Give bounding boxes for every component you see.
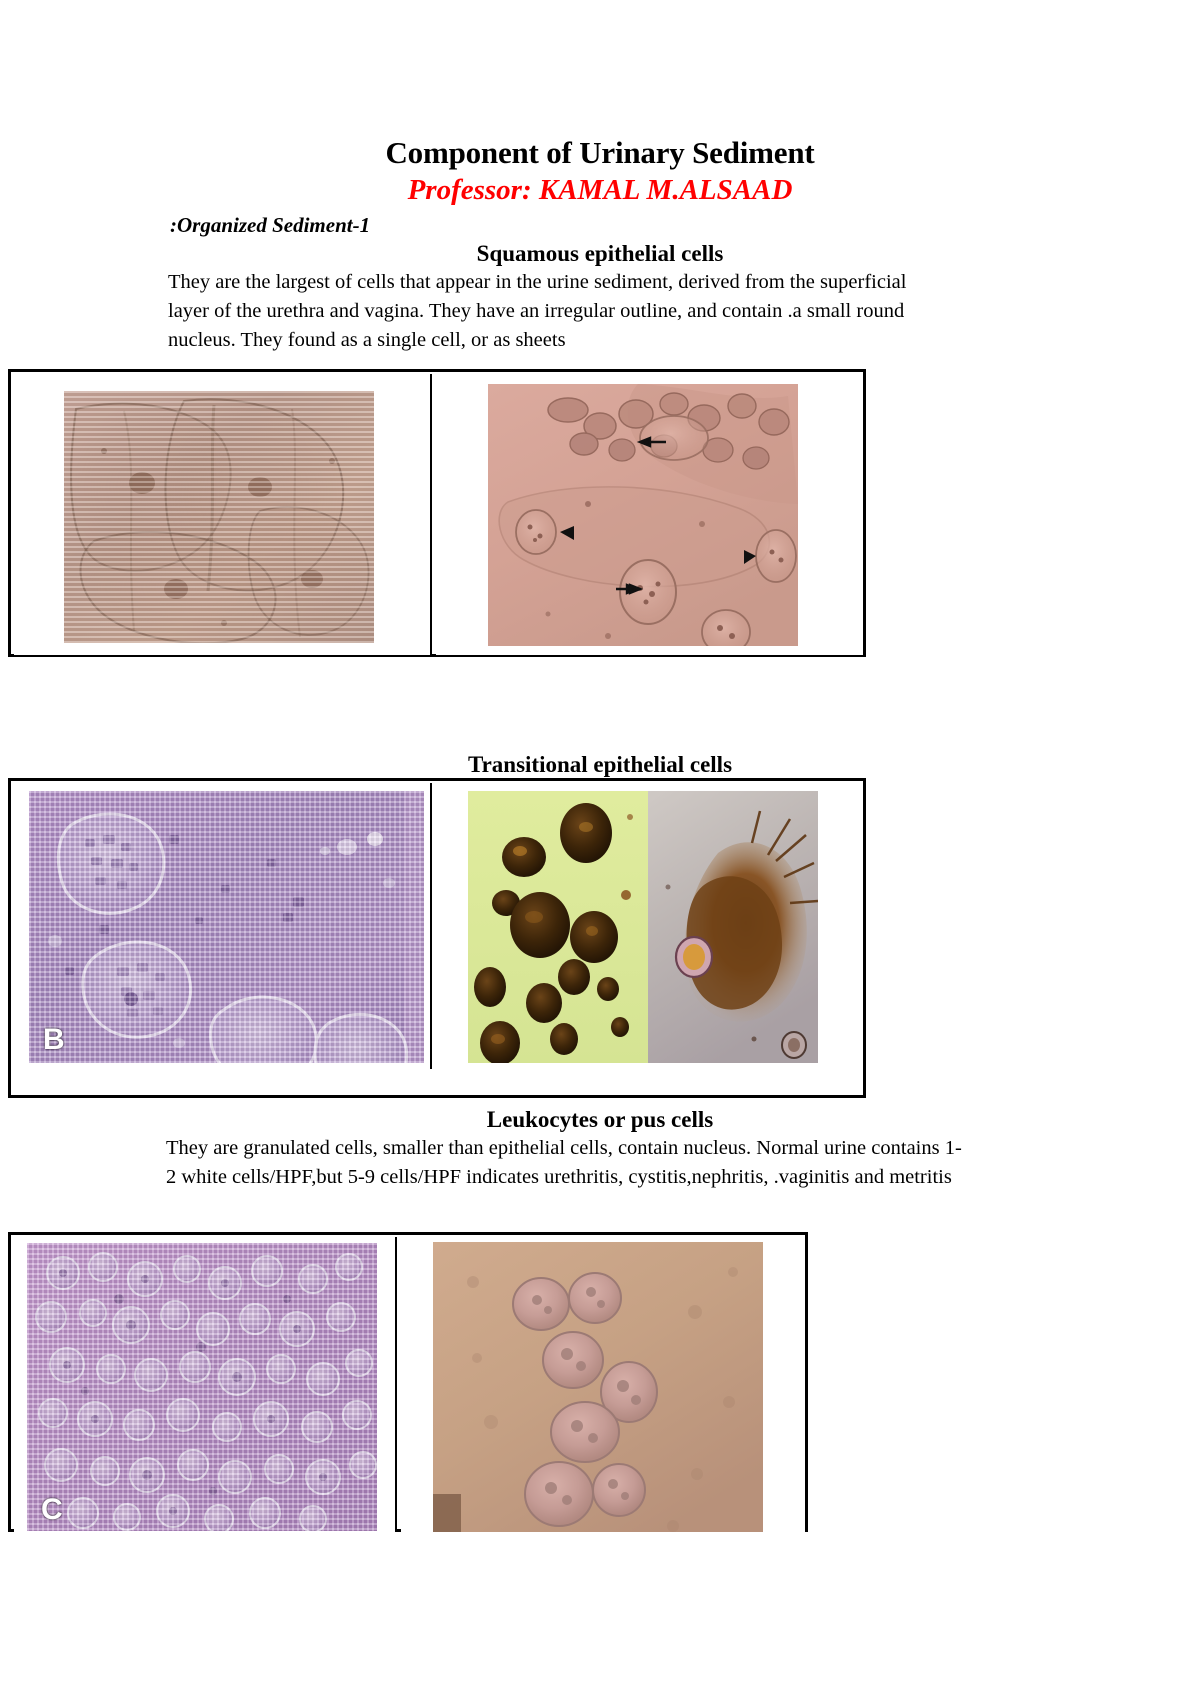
section-label: :Organized Sediment-1 bbox=[0, 205, 1200, 237]
panel-letter-c: C bbox=[41, 1493, 63, 1527]
figure-panel-right bbox=[436, 783, 863, 1069]
page-title: Component of Urinary Sediment bbox=[0, 0, 1200, 170]
document-page: Component of Urinary Sediment Professor:… bbox=[0, 0, 1200, 1698]
paragraph-leukocytes-or-pus-cells: They are granulated cells, smaller than … bbox=[0, 1132, 1200, 1192]
figure-panel-right bbox=[436, 374, 863, 655]
squamous-sheet-image bbox=[64, 391, 374, 643]
figure-panel-right bbox=[401, 1237, 805, 1532]
figure-panel-left: B bbox=[14, 783, 432, 1069]
paragraph-squamous-epithelial-cells: They are the largest of cells that appea… bbox=[0, 266, 1200, 355]
squamous-arrows-image bbox=[488, 384, 798, 646]
figure-panel-left: C bbox=[14, 1237, 397, 1532]
heading-squamous-epithelial-cells: Squamous epithelial cells bbox=[0, 237, 1200, 266]
leukocytes-purple-image bbox=[27, 1243, 377, 1531]
figure-panel-left bbox=[14, 374, 432, 655]
heading-transitional-epithelial-cells: Transitional epithelial cells bbox=[0, 748, 1200, 777]
figure-transitional-epithelial-cells: B bbox=[8, 778, 866, 1098]
panel-letter-b: B bbox=[43, 1023, 65, 1057]
heading-leukocytes-or-pus-cells: Leukocytes or pus cells bbox=[0, 1103, 1200, 1132]
section-leukocytes: Leukocytes or pus cells They are granula… bbox=[0, 1103, 1200, 1192]
transitional-stained-micrograph bbox=[468, 791, 818, 1063]
leukocytes-brown-micrograph bbox=[433, 1242, 763, 1532]
leukocytes-brown-image bbox=[433, 1242, 763, 1532]
squamous-sheet-micrograph bbox=[64, 391, 374, 643]
figure-squamous-epithelial-cells bbox=[8, 369, 866, 657]
leukocytes-purple-micrograph: C bbox=[27, 1243, 377, 1531]
transitional-purple-image bbox=[29, 791, 424, 1063]
transitional-purple-micrograph: B bbox=[29, 791, 424, 1063]
page-subtitle: Professor: KAMAL M.ALSAAD bbox=[0, 170, 1200, 205]
transitional-stained-image bbox=[468, 791, 818, 1063]
squamous-cells-arrows-micrograph bbox=[488, 384, 798, 646]
figure-leukocytes-or-pus-cells: C bbox=[8, 1232, 808, 1532]
